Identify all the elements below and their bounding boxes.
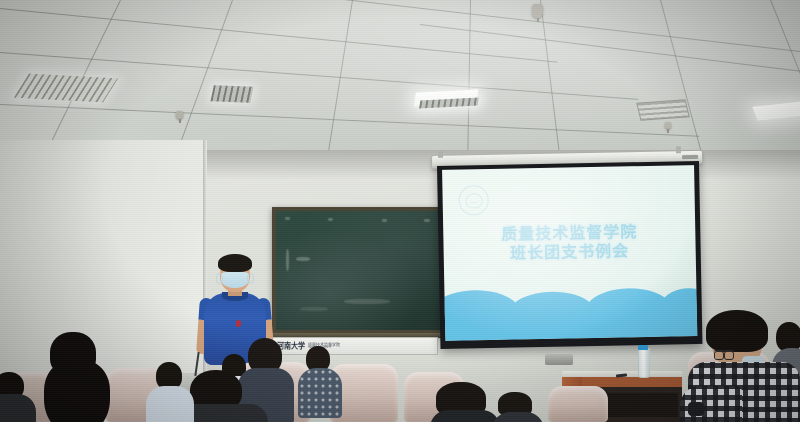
air-vent-grille — [210, 85, 253, 102]
recessed-fluorescent-panel — [419, 97, 479, 108]
water-bottle — [638, 348, 650, 378]
university-crest-icon — [458, 185, 489, 216]
wristwatch-icon — [688, 402, 704, 416]
classroom-photo-scene: 河南大学 质量技术监督学院 HENAN UNIVERSITY 质量技术监督学院 … — [0, 0, 800, 422]
recessed-fluorescent-panel — [752, 101, 800, 120]
slide-title-line-2: 班长团支书例会 — [444, 240, 696, 264]
presenter-shirt-logo — [236, 320, 241, 327]
bottle-cap — [638, 345, 648, 350]
student-hair — [706, 310, 768, 352]
wall-speaker-box — [545, 354, 573, 365]
department-plaque: 河南大学 质量技术监督学院 HENAN UNIVERSITY — [272, 337, 438, 355]
lecture-seat — [548, 386, 608, 422]
chalkboard — [276, 211, 450, 330]
recessed-fluorescent-panel — [414, 89, 479, 106]
recessed-fluorescent-panel — [14, 74, 118, 103]
chalkboard-frame — [272, 207, 454, 335]
presenter-hair — [218, 254, 252, 272]
eyeglasses-icon — [714, 350, 734, 358]
sprinkler-head — [665, 122, 671, 129]
slide-wave-graphic — [444, 280, 697, 341]
air-vent-grille — [636, 99, 690, 120]
projection-screen: 质量技术监督学院 班长团支书例会 — [437, 161, 702, 349]
screen-brand-label — [682, 155, 698, 159]
slide-title-line-1: 质量技术监督学院 — [501, 222, 637, 244]
face-mask-icon — [221, 272, 249, 288]
slide-title: 质量技术监督学院 班长团支书例会 — [443, 221, 696, 264]
sprinkler-head — [176, 111, 183, 119]
projected-slide: 质量技术监督学院 班长团支书例会 — [442, 165, 697, 341]
sprinkler-head — [532, 4, 543, 18]
